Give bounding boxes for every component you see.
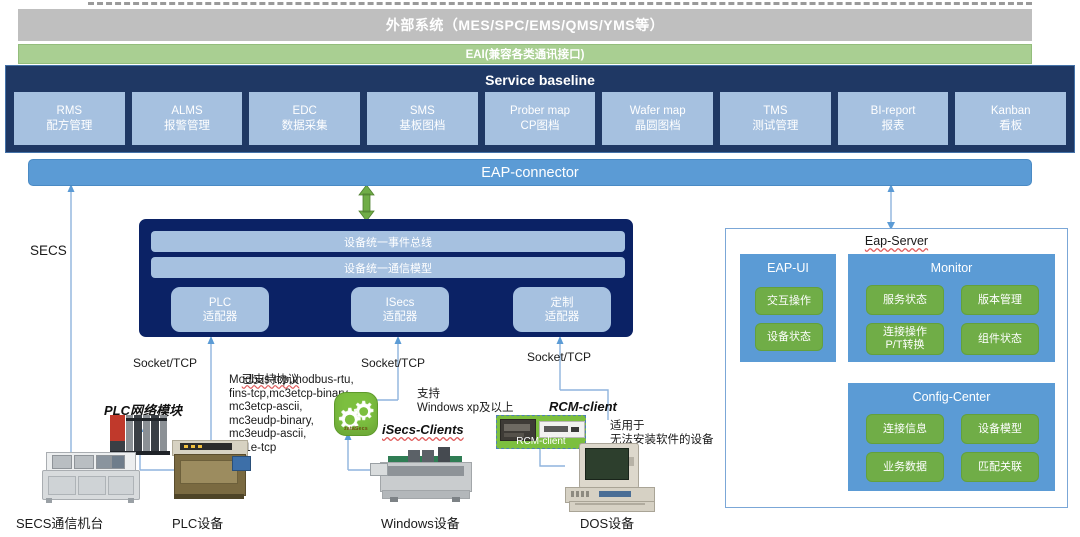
comm-model-bar[interactable]: 设备统一通信模型 xyxy=(151,257,625,278)
event-bus-label: 设备统一事件总线 xyxy=(344,234,432,250)
service-tile-edc[interactable]: EDC 数据采集 xyxy=(249,92,360,145)
eap-connector-bar[interactable]: EAP-connector xyxy=(28,159,1032,186)
service-baseline-tiles: RMS 配方管理 ALMS 报警管理 EDC 数据采集 SMS 基板图档 Pro… xyxy=(14,92,1066,145)
windows-support-note: 支持 Windows xp及以上 xyxy=(417,388,514,415)
service-tile-prober-map[interactable]: Prober map CP图档 xyxy=(485,92,596,145)
isecs-client-icon[interactable]: zataSecs xyxy=(334,392,378,436)
caption-dos-device: DOS设备 xyxy=(580,513,634,532)
chip-label: 业务数据 xyxy=(883,461,927,474)
monitor-chip-version-management[interactable]: 版本管理 xyxy=(961,285,1039,315)
chip-label: 匹配关联 xyxy=(978,461,1022,474)
eap-ui-card: EAP-UI 交互操作 设备状态 xyxy=(740,254,836,362)
service-tile-cn: CP图档 xyxy=(521,119,560,134)
monitor-chip-component-status[interactable]: 组件状态 xyxy=(961,323,1039,355)
service-tile-cn: 数据采集 xyxy=(282,119,328,134)
plc-network-module-image xyxy=(110,415,174,455)
eap-server-title: Eap-Server xyxy=(726,234,1067,248)
service-tile-sms[interactable]: SMS 基板图档 xyxy=(367,92,478,145)
socket-tcp-label-plc: Socket/TCP xyxy=(133,356,197,370)
service-tile-en: ALMS xyxy=(171,104,202,119)
external-systems-label: 外部系统（MES/SPC/EMS/QMS/YMS等） xyxy=(386,15,664,35)
architecture-diagram: 外部系统（MES/SPC/EMS/QMS/YMS等） EAI(兼容各类通讯接口)… xyxy=(0,0,1080,537)
isecs-clients-text: iSecs-Clients xyxy=(382,422,464,437)
eap-ui-title: EAP-UI xyxy=(741,261,835,275)
rcm-client-title: RCM-client xyxy=(549,399,617,414)
service-tile-en: EDC xyxy=(293,104,317,119)
plc-device-image xyxy=(170,440,252,500)
adapter-en: ISecs xyxy=(386,296,415,310)
service-tile-en: RMS xyxy=(57,104,83,119)
service-tile-bi-report[interactable]: BI-report 报表 xyxy=(838,92,949,145)
external-systems-banner: 外部系统（MES/SPC/EMS/QMS/YMS等） xyxy=(18,9,1032,41)
service-tile-wafer-map[interactable]: Wafer map 晶圆图档 xyxy=(602,92,713,145)
chip-label-line2: P/T转换 xyxy=(885,339,924,352)
chip-label: 组件状态 xyxy=(978,333,1022,346)
chip-label: 服务状态 xyxy=(883,294,927,307)
config-chip-business-data[interactable]: 业务数据 xyxy=(866,452,944,482)
monitor-chip-service-status[interactable]: 服务状态 xyxy=(866,285,944,315)
device-integration-panel: 设备统一事件总线 设备统一通信模型 PLC 适配器 ISecs 适配器 定制 适… xyxy=(139,219,633,337)
service-tile-en: Kanban xyxy=(991,104,1031,119)
adapter-cn: 适配器 xyxy=(545,310,580,324)
service-tile-en: Prober map xyxy=(510,104,570,119)
service-baseline-title: Service baseline xyxy=(6,72,1074,88)
monitor-title: Monitor xyxy=(849,261,1054,275)
config-center-card: Config-Center 连接信息 设备模型 业务数据 匹配关联 xyxy=(848,383,1055,491)
service-tile-en: Wafer map xyxy=(630,104,686,119)
service-tile-rms[interactable]: RMS 配方管理 xyxy=(14,92,125,145)
service-tile-en: SMS xyxy=(410,104,435,119)
service-tile-cn: 晶圆图档 xyxy=(635,119,681,134)
service-tile-kanban[interactable]: Kanban 看板 xyxy=(955,92,1066,145)
service-tile-cn: 测试管理 xyxy=(752,119,798,134)
config-center-title: Config-Center xyxy=(849,390,1054,404)
eap-server-title-text: Eap-Server xyxy=(865,234,928,248)
service-tile-alms[interactable]: ALMS 报警管理 xyxy=(132,92,243,145)
chip-label: 连接信息 xyxy=(883,423,927,436)
config-chip-device-model[interactable]: 设备模型 xyxy=(961,414,1039,444)
secs-label: SECS xyxy=(30,243,67,258)
isecs-icon-wordmark: zataSecs xyxy=(335,426,377,432)
chip-label: 交互操作 xyxy=(767,295,811,308)
windows-device-image xyxy=(370,447,478,505)
adapter-cn: 适配器 xyxy=(203,310,238,324)
eap-connector-label: EAP-connector xyxy=(481,165,579,181)
service-tile-cn: 看板 xyxy=(999,119,1022,134)
monitor-card: Monitor 服务状态 版本管理 连接操作 P/T转换 组件状态 xyxy=(848,254,1055,362)
service-tile-cn: 报警管理 xyxy=(164,119,210,134)
adapter-cn: 适配器 xyxy=(383,310,418,324)
socket-tcp-label-isecs: Socket/TCP xyxy=(361,356,425,370)
eap-ui-chip-device-status[interactable]: 设备状态 xyxy=(755,323,823,351)
service-tile-cn: 基板图档 xyxy=(399,119,445,134)
eai-banner: EAI(兼容各类通讯接口) xyxy=(18,44,1032,64)
service-tile-tms[interactable]: TMS 测试管理 xyxy=(720,92,831,145)
eap-server-panel: Eap-Server EAP-UI 交互操作 设备状态 Monitor 服务状态… xyxy=(725,228,1068,508)
config-chip-connection-info[interactable]: 连接信息 xyxy=(866,414,944,444)
socket-tcp-label-custom: Socket/TCP xyxy=(527,350,591,364)
caption-secs-station: SECS通信机台 xyxy=(16,513,103,532)
service-tile-cn: 配方管理 xyxy=(46,119,92,134)
eap-ui-chip-interactive-ops[interactable]: 交互操作 xyxy=(755,287,823,315)
caption-windows-device: Windows设备 xyxy=(381,513,460,532)
comm-model-label: 设备统一通信模型 xyxy=(344,260,432,276)
adapter-custom[interactable]: 定制 适配器 xyxy=(513,287,611,332)
secs-station-image xyxy=(40,452,140,504)
caption-plc-device: PLC设备 xyxy=(172,513,223,532)
chip-label: 版本管理 xyxy=(978,294,1022,307)
adapter-plc[interactable]: PLC 适配器 xyxy=(171,287,269,332)
adapter-en: PLC xyxy=(209,296,231,310)
service-tile-en: TMS xyxy=(763,104,787,119)
monitor-chip-connection-ops[interactable]: 连接操作 P/T转换 xyxy=(866,323,944,355)
service-tile-cn: 报表 xyxy=(882,119,905,134)
top-dashed-divider xyxy=(88,2,1032,5)
dos-device-image xyxy=(563,443,659,511)
event-bus-bar[interactable]: 设备统一事件总线 xyxy=(151,231,625,252)
chip-label-line1: 连接操作 xyxy=(883,326,927,339)
chip-label: 设备状态 xyxy=(767,331,811,344)
adapter-isecs[interactable]: ISecs 适配器 xyxy=(351,287,449,332)
eai-label: EAI(兼容各类通讯接口) xyxy=(466,46,585,62)
config-chip-match-relation[interactable]: 匹配关联 xyxy=(961,452,1039,482)
chip-label: 设备模型 xyxy=(978,423,1022,436)
service-tile-en: BI-report xyxy=(871,104,916,119)
adapter-en: 定制 xyxy=(551,296,574,310)
isecs-clients-label: iSecs-Clients xyxy=(382,422,464,437)
service-baseline-panel: Service baseline RMS 配方管理 ALMS 报警管理 EDC … xyxy=(5,65,1075,153)
